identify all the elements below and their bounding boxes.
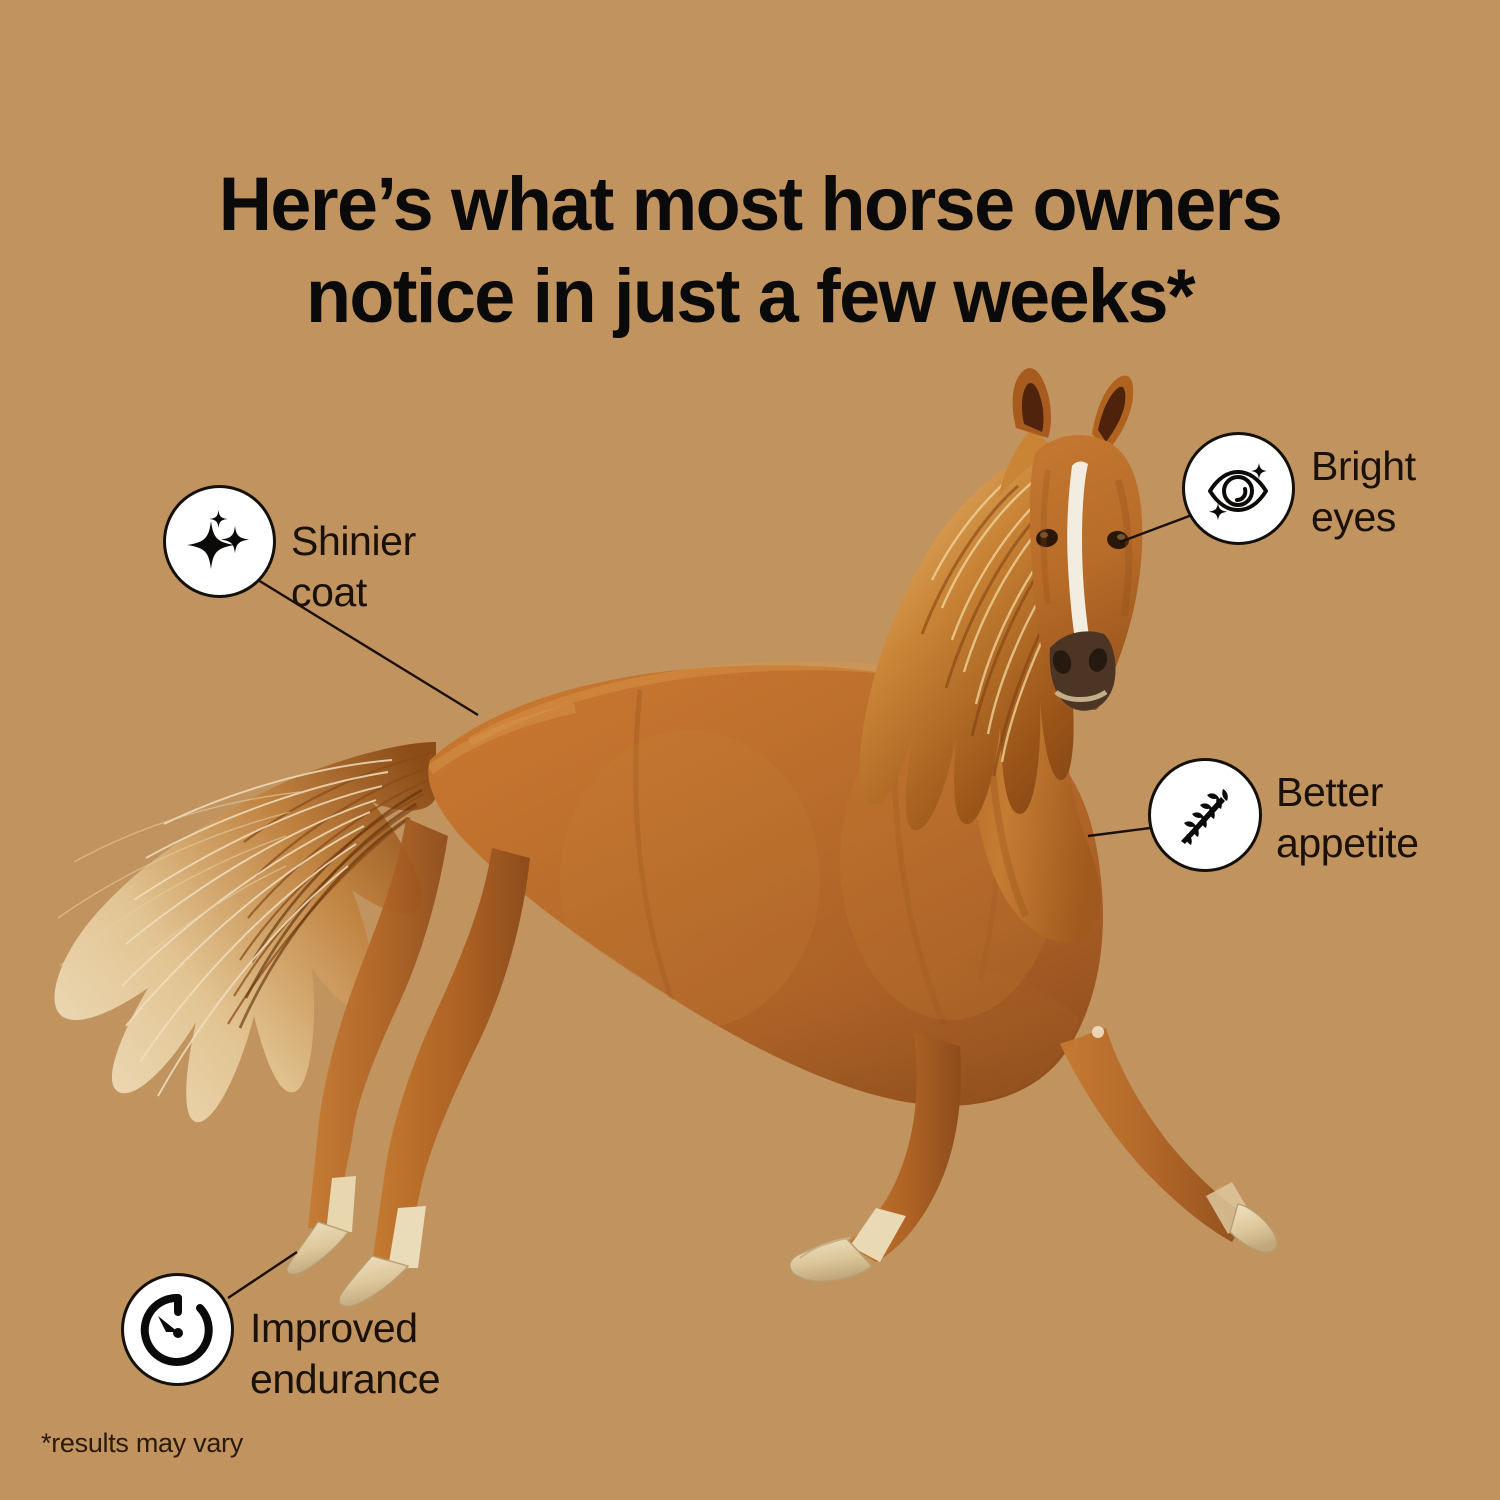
horse-neck [964,446,1114,942]
infographic-canvas: Here’s what most horse owners notice in … [0,0,1500,1500]
horse-tail [54,742,436,1122]
sparkle-icon [183,505,257,579]
horse-hind-legs [287,818,530,1306]
callout-label-better-appetite: Better appetite [1276,767,1419,869]
badge-improved-endurance[interactable] [121,1273,234,1386]
callout-label-improved-endurance: Improved endurance [250,1303,440,1405]
wheat-icon [1169,779,1241,851]
callout-label-bright-eyes: Bright eyes [1311,441,1416,543]
stopwatch-icon [138,1290,218,1370]
leader-line-better-appetite [1088,828,1150,836]
leader-line-improved-endurance [228,1252,297,1298]
horse-mane [860,426,1116,830]
horse-body [428,665,1103,1180]
page-title: Here’s what most horse owners notice in … [23,159,1478,343]
horse-fore-legs [790,1026,1277,1281]
leader-line-bright-eyes [1120,515,1192,542]
badge-shinier-coat[interactable] [163,485,276,598]
footnote-disclaimer: *results may vary [41,1428,243,1459]
callout-label-shinier-coat: Shinier coat [291,516,416,618]
horse-head [1013,368,1143,711]
badge-bright-eyes[interactable] [1182,432,1295,545]
eye-icon [1201,451,1277,527]
badge-better-appetite[interactable] [1148,758,1262,872]
